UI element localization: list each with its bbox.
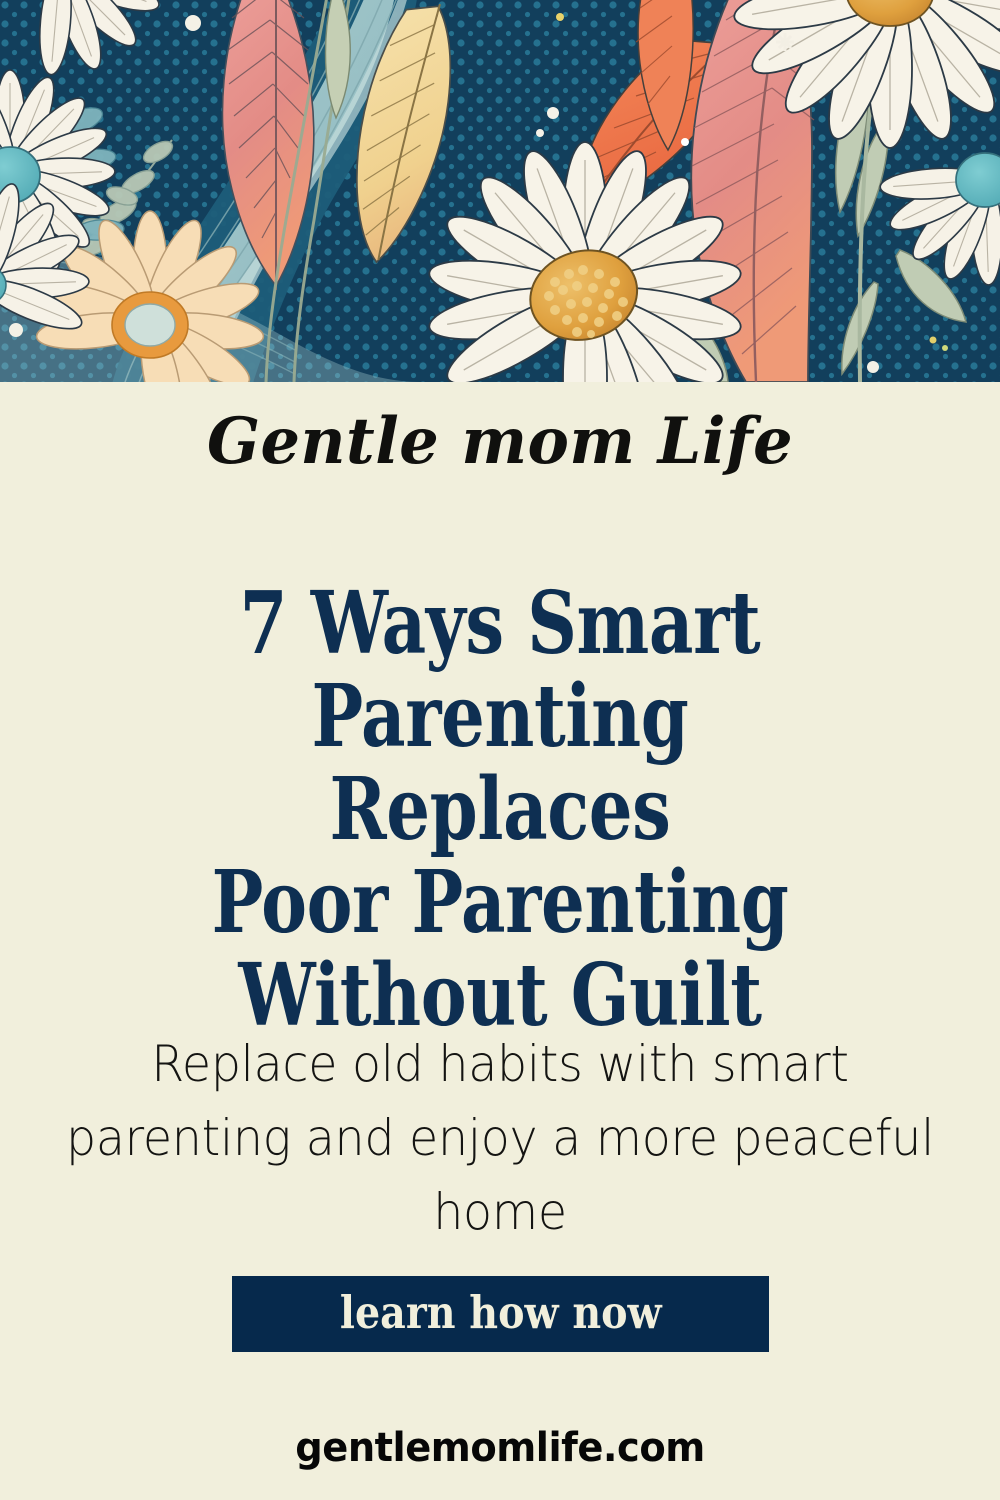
headline-line-2: Parenting Replaces (148, 670, 852, 856)
hero-floral-illustration (0, 0, 1000, 382)
text-panel: Gentle mom Life 7 Ways Smart Parenting R… (0, 382, 1000, 1500)
page-title: 7 Ways Smart Parenting Replaces Poor Par… (60, 577, 940, 1042)
brand-name: Gentle mom Life (15, 410, 985, 474)
site-url: gentlemomlife.com (20, 1428, 980, 1468)
subtitle-text: Replace old habits with smart parenting … (54, 1027, 947, 1249)
pinterest-pin-card: Gentle mom Life 7 Ways Smart Parenting R… (0, 0, 1000, 1500)
cta-button-label: learn how now (340, 1290, 662, 1335)
learn-how-now-button[interactable]: learn how now (232, 1276, 769, 1352)
headline-line-3: Poor Parenting (148, 856, 852, 949)
headline-line-1: 7 Ways Smart (148, 577, 852, 670)
